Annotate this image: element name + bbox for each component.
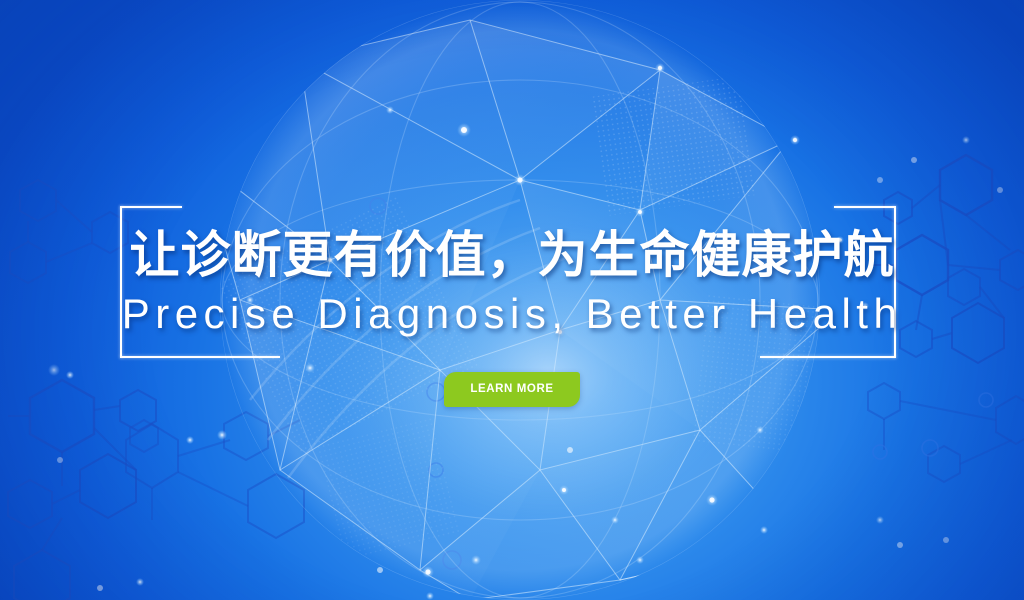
frame-line-bottom-left bbox=[120, 356, 280, 358]
frame-line-top-right bbox=[834, 206, 896, 208]
cta-container: LEARN MORE bbox=[0, 372, 1024, 407]
headline-frame bbox=[120, 206, 896, 358]
hero-banner: 让诊断更有价值，为生命健康护航 Precise Diagnosis, Bette… bbox=[0, 0, 1024, 600]
frame-line-top-left bbox=[120, 206, 182, 208]
frame-line-left bbox=[120, 206, 122, 358]
frame-line-bottom-right bbox=[760, 356, 896, 358]
frame-line-right bbox=[894, 206, 896, 358]
learn-more-button[interactable]: LEARN MORE bbox=[444, 372, 579, 407]
